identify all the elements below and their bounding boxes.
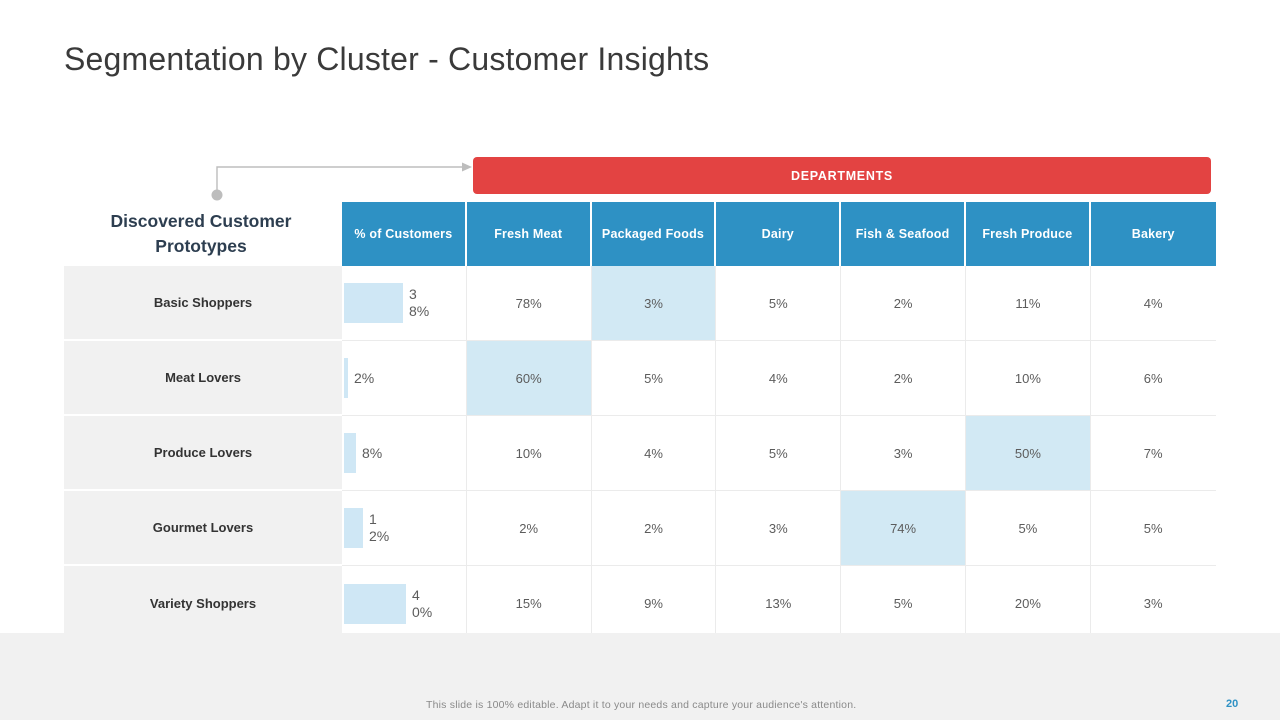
cell-bakery[interactable]: 3% <box>1091 566 1216 641</box>
cell-fresh-produce[interactable]: 20% <box>966 566 1091 641</box>
cell-packaged-foods[interactable]: 4% <box>592 416 717 491</box>
cell-fish-seafood[interactable]: 2% <box>841 341 966 416</box>
cell-dairy[interactable]: 5% <box>716 416 841 491</box>
footer-note: This slide is 100% editable. Adapt it to… <box>426 699 856 711</box>
page-title: Segmentation by Cluster - Customer Insig… <box>64 36 709 82</box>
row-label-produce-lovers[interactable]: Produce Lovers <box>64 416 342 491</box>
cell-percent-of-customers[interactable]: 38% <box>342 266 467 341</box>
cell-fresh-meat[interactable]: 78% <box>467 266 592 341</box>
departments-banner: DEPARTMENTS <box>473 157 1211 194</box>
cell-fresh-meat[interactable]: 10% <box>467 416 592 491</box>
column-header-dairy[interactable]: Dairy <box>716 202 841 266</box>
row-cells: 2%60%5%4%2%10%6% <box>342 341 1216 416</box>
cell-fresh-meat[interactable]: 60% <box>467 341 592 416</box>
percent-value: 2% <box>354 370 374 387</box>
slide-canvas: Segmentation by Cluster - Customer Insig… <box>0 0 1280 720</box>
row-cells: 8%10%4%5%3%50%7% <box>342 416 1216 491</box>
cell-bakery[interactable]: 4% <box>1091 266 1216 341</box>
cell-fresh-meat[interactable]: 2% <box>467 491 592 566</box>
row-cells: 12%2%2%3%74%5%5% <box>342 491 1216 566</box>
cell-fresh-produce[interactable]: 5% <box>966 491 1091 566</box>
percent-bar <box>344 508 363 548</box>
column-header-fresh-meat[interactable]: Fresh Meat <box>467 202 592 266</box>
percent-value: 38% <box>409 286 435 320</box>
cell-fresh-produce[interactable]: 50% <box>966 416 1091 491</box>
column-header-of-customers[interactable]: % of Customers <box>342 202 467 266</box>
percent-bar <box>344 433 356 473</box>
segmentation-matrix: % of CustomersFresh MeatPackaged FoodsDa… <box>64 202 1216 642</box>
departments-banner-label: DEPARTMENTS <box>791 169 893 183</box>
row-label-meat-lovers[interactable]: Meat Lovers <box>64 341 342 416</box>
cell-fish-seafood[interactable]: 5% <box>841 566 966 641</box>
row-label-gourmet-lovers[interactable]: Gourmet Lovers <box>64 491 342 566</box>
page-number: 20 <box>1226 698 1238 710</box>
cell-dairy[interactable]: 4% <box>716 341 841 416</box>
cell-bakery[interactable]: 5% <box>1091 491 1216 566</box>
row-label-basic-shoppers[interactable]: Basic Shoppers <box>64 266 342 341</box>
table-row: Gourmet Lovers12%2%2%3%74%5%5% <box>64 491 1216 566</box>
cell-dairy[interactable]: 3% <box>716 491 841 566</box>
cell-packaged-foods[interactable]: 3% <box>592 266 717 341</box>
cell-fresh-produce[interactable]: 10% <box>966 341 1091 416</box>
cell-bakery[interactable]: 6% <box>1091 341 1216 416</box>
percent-value: 12% <box>369 511 395 545</box>
percent-bar <box>344 584 406 624</box>
table-row: Basic Shoppers38%78%3%5%2%11%4% <box>64 266 1216 341</box>
cell-fresh-meat[interactable]: 15% <box>467 566 592 641</box>
table-row: Meat Lovers2%60%5%4%2%10%6% <box>64 341 1216 416</box>
row-label-variety-shoppers[interactable]: Variety Shoppers <box>64 566 342 641</box>
cell-fish-seafood[interactable]: 2% <box>841 266 966 341</box>
cell-percent-of-customers[interactable]: 12% <box>342 491 467 566</box>
cell-fish-seafood[interactable]: 3% <box>841 416 966 491</box>
table-body: Basic Shoppers38%78%3%5%2%11%4%Meat Love… <box>64 266 1216 643</box>
cell-packaged-foods[interactable]: 9% <box>592 566 717 641</box>
cell-bakery[interactable]: 7% <box>1091 416 1216 491</box>
percent-value: 40% <box>412 587 438 621</box>
cell-packaged-foods[interactable]: 2% <box>592 491 717 566</box>
table-header-row: % of CustomersFresh MeatPackaged FoodsDa… <box>342 202 1216 266</box>
cell-fish-seafood[interactable]: 74% <box>841 491 966 566</box>
cell-dairy[interactable]: 5% <box>716 266 841 341</box>
cell-fresh-produce[interactable]: 11% <box>966 266 1091 341</box>
percent-value: 8% <box>362 445 382 462</box>
connector-arrow-icon <box>210 158 480 202</box>
cell-dairy[interactable]: 13% <box>716 566 841 641</box>
cell-percent-of-customers[interactable]: 40% <box>342 566 467 641</box>
percent-bar <box>344 358 348 398</box>
column-header-fish-seafood[interactable]: Fish & Seafood <box>841 202 966 266</box>
table-row: Produce Lovers8%10%4%5%3%50%7% <box>64 416 1216 491</box>
column-header-packaged-foods[interactable]: Packaged Foods <box>592 202 717 266</box>
percent-bar <box>344 283 403 323</box>
column-header-bakery[interactable]: Bakery <box>1091 202 1216 266</box>
row-cells: 40%15%9%13%5%20%3% <box>342 566 1216 641</box>
cell-percent-of-customers[interactable]: 2% <box>342 341 467 416</box>
column-header-fresh-produce[interactable]: Fresh Produce <box>966 202 1091 266</box>
cell-packaged-foods[interactable]: 5% <box>592 341 717 416</box>
cell-percent-of-customers[interactable]: 8% <box>342 416 467 491</box>
table-row: Variety Shoppers40%15%9%13%5%20%3% <box>64 566 1216 641</box>
row-cells: 38%78%3%5%2%11%4% <box>342 266 1216 341</box>
